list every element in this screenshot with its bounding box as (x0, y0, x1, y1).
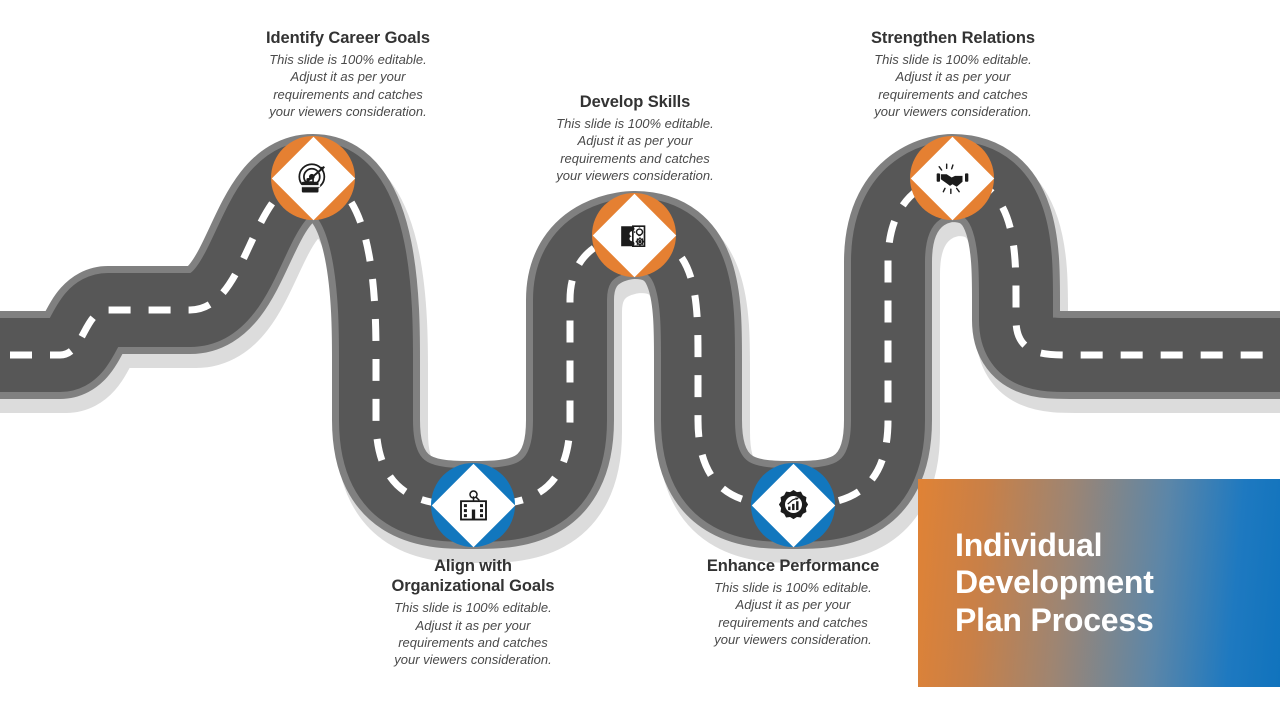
step-text-enhance-performance: Enhance Performance This slide is 100% e… (678, 556, 908, 648)
marker-diamond (751, 463, 834, 546)
step-text-strengthen-relations: Strengthen Relations This slide is 100% … (838, 28, 1068, 120)
step-text-develop-skills: Develop Skills This slide is 100% editab… (520, 92, 750, 184)
step-marker-develop-skills[interactable] (592, 193, 676, 277)
step-title: Enhance Performance (678, 556, 908, 576)
marker-diamond (431, 463, 514, 546)
puzzle-idea-gear-icon (613, 214, 655, 256)
step-title: Strengthen Relations (838, 28, 1068, 48)
slide-title-card: Individual Development Plan Process (918, 479, 1280, 687)
marker-diamond (592, 193, 675, 276)
step-text-identify-career-goals: Identify Career Goals This slide is 100%… (233, 28, 463, 120)
step-marker-align-with-organizational-goals[interactable] (431, 463, 515, 547)
step-description: This slide is 100% editable. Adjust it a… (520, 115, 750, 184)
handshake-icon (931, 157, 973, 199)
step-title: Develop Skills (520, 92, 750, 112)
step-description: This slide is 100% editable. Adjust it a… (358, 599, 588, 668)
gear-bar-chart-icon (772, 484, 814, 526)
office-building-icon (452, 484, 494, 526)
slide-title: Individual Development Plan Process (918, 527, 1154, 639)
step-title: Align with Organizational Goals (358, 556, 588, 596)
step-marker-identify-career-goals[interactable] (271, 136, 355, 220)
step-marker-enhance-performance[interactable] (751, 463, 835, 547)
step-title: Identify Career Goals (233, 28, 463, 48)
step-description: This slide is 100% editable. Adjust it a… (678, 579, 908, 648)
marker-diamond (910, 136, 993, 219)
step-description: This slide is 100% editable. Adjust it a… (838, 51, 1068, 120)
target-briefcase-icon (292, 157, 334, 199)
step-description: This slide is 100% editable. Adjust it a… (233, 51, 463, 120)
marker-diamond (271, 136, 354, 219)
step-text-align-with-organizational-goals: Align with Organizational Goals This sli… (358, 556, 588, 668)
slide-canvas: Identify Career Goals This slide is 100%… (0, 0, 1280, 720)
step-marker-strengthen-relations[interactable] (910, 136, 994, 220)
